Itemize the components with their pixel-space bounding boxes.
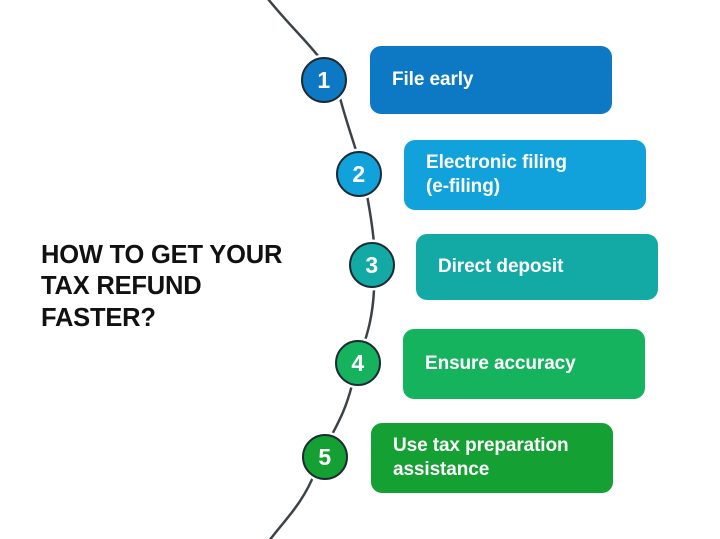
step-label-2: Electronic filing(e-filing) — [426, 151, 567, 199]
step-label-3: Direct deposit — [438, 255, 563, 279]
page-title-line-1: HOW TO GET YOUR — [41, 240, 321, 271]
step-badge-3[interactable]: 3 — [349, 242, 395, 288]
step-bar-2[interactable]: Electronic filing(e-filing) — [404, 140, 646, 210]
page-title-line-2: TAX REFUND — [41, 271, 321, 302]
step-number-2: 2 — [352, 163, 365, 186]
infographic-canvas: HOW TO GET YOUR TAX REFUND FASTER? 1 Fil… — [0, 0, 720, 539]
step-label-5: Use tax preparationassistance — [393, 434, 569, 482]
step-badge-5[interactable]: 5 — [302, 434, 348, 480]
step-number-1: 1 — [317, 69, 330, 92]
step-bar-3[interactable]: Direct deposit — [416, 234, 658, 300]
page-title: HOW TO GET YOUR TAX REFUND FASTER? — [41, 240, 321, 334]
step-number-3: 3 — [365, 254, 378, 277]
step-label-1: File early — [392, 68, 473, 92]
step-number-4: 4 — [351, 352, 364, 375]
step-bar-1[interactable]: File early — [370, 46, 612, 114]
page-title-line-3: FASTER? — [41, 303, 321, 334]
step-badge-1[interactable]: 1 — [301, 57, 347, 103]
step-badge-2[interactable]: 2 — [336, 151, 382, 197]
step-bar-5[interactable]: Use tax preparationassistance — [371, 423, 613, 493]
step-label-4: Ensure accuracy — [425, 352, 576, 376]
step-bar-4[interactable]: Ensure accuracy — [403, 329, 645, 399]
step-badge-4[interactable]: 4 — [335, 340, 381, 386]
step-number-5: 5 — [318, 446, 331, 469]
